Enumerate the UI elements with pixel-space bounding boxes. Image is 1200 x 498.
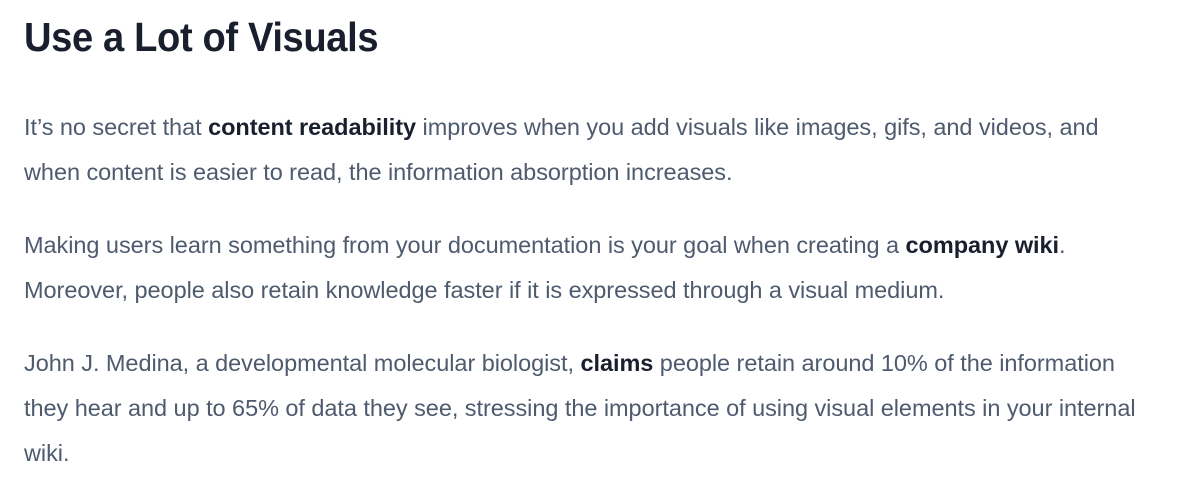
article-body: It’s no secret that content readability …: [24, 58, 1176, 476]
paragraph: John J. Medina, a developmental molecula…: [24, 341, 1136, 476]
article-container: Use a Lot of Visuals It’s no secret that…: [0, 0, 1200, 498]
emphasis-text: company wiki: [906, 232, 1060, 258]
emphasis-text: claims: [580, 350, 653, 376]
paragraph: Making users learn something from your d…: [24, 223, 1136, 313]
page-title: Use a Lot of Visuals: [24, 0, 1095, 58]
paragraph: It’s no secret that content readability …: [24, 105, 1136, 195]
emphasis-text: content readability: [208, 114, 416, 140]
